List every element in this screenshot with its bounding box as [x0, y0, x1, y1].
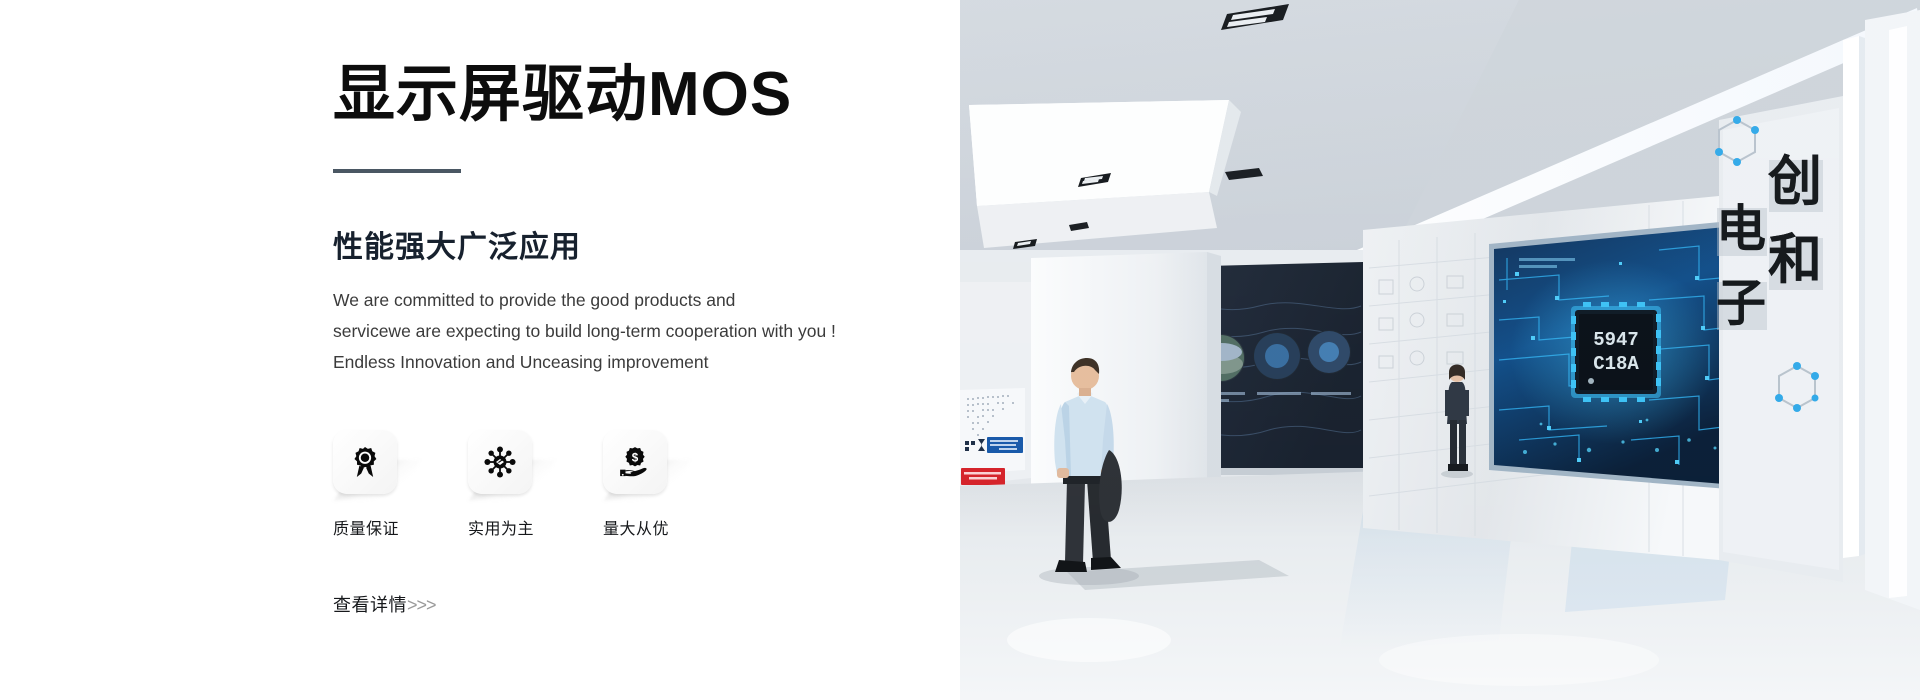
- hand-money-icon: $: [603, 430, 667, 494]
- feature-item-bulk-discount[interactable]: $ 量大从优: [603, 430, 683, 539]
- banner-subtitle: 性能强大广泛应用: [333, 228, 933, 267]
- view-details-label: 查看详情: [333, 595, 407, 615]
- feature-label-practical: 实用为主: [468, 515, 548, 539]
- feature-item-practical[interactable]: 实用为主: [468, 430, 548, 539]
- description-line-2: servicewe are expecting to build long-te…: [333, 316, 933, 347]
- showroom-interior-photo: 5947 C18A 创: [959, 0, 1920, 700]
- award-ribbon-icon: [333, 430, 397, 494]
- banner-content: 显示屏驱动MOS 性能强大广泛应用 We are committed to pr…: [333, 60, 933, 617]
- description-line-1: We are committed to provide the good pro…: [333, 285, 933, 316]
- network-hub-icon: [468, 430, 532, 494]
- banner-description: We are committed to provide the good pro…: [333, 285, 933, 378]
- page-title: 显示屏驱动MOS: [333, 60, 933, 129]
- feature-list: 质量保证: [333, 430, 933, 539]
- chevron-right-icon: >>>: [407, 595, 436, 615]
- view-details-link[interactable]: 查看详情>>>: [333, 591, 436, 617]
- feature-label-quality: 质量保证: [333, 515, 413, 539]
- hero-banner: 显示屏驱动MOS 性能强大广泛应用 We are committed to pr…: [0, 0, 1920, 700]
- description-line-3: Endless Innovation and Unceasing improve…: [333, 347, 933, 378]
- left-text-panel: 显示屏驱动MOS 性能强大广泛应用 We are committed to pr…: [0, 0, 960, 700]
- title-divider-rule: [333, 169, 461, 173]
- svg-text:$: $: [632, 451, 639, 465]
- feature-label-bulk-discount: 量大从优: [603, 515, 683, 539]
- feature-item-quality[interactable]: 质量保证: [333, 430, 413, 539]
